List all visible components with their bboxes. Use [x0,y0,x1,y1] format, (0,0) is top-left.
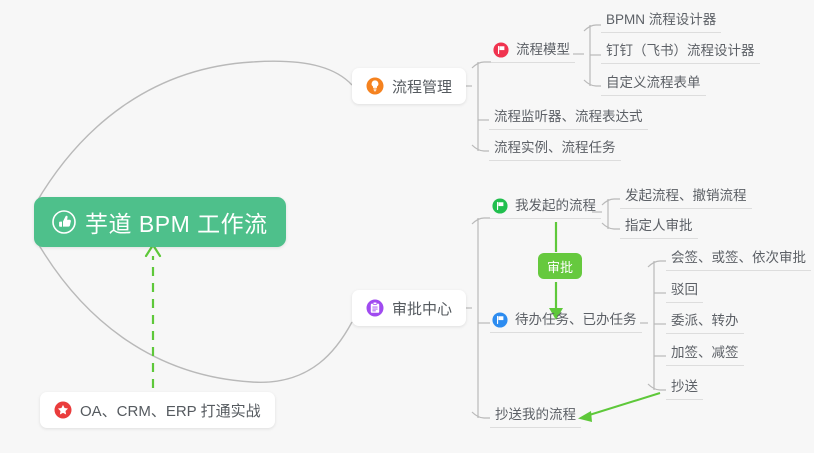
edge-pm-to-instance [472,145,489,151]
node-countersign-or-sequential[interactable]: 会签、或签、依次审批 [666,249,811,271]
edge-ac-to-cc-to-me [472,412,490,418]
star-icon [54,401,72,419]
thumbs-up-icon [52,210,76,234]
node-label-dingtalk-feishu-designer: 钉钉（飞书）流程设计器 [606,39,755,59]
edge-root-to-process-management [36,61,352,203]
branch-label-approval-center: 审批中心 [392,298,452,319]
node-label-delegate-transfer: 委派、转办 [671,309,739,329]
green-cc-arrow-line [586,393,660,416]
node-start-cancel-process[interactable]: 发起流程、撤销流程 [620,187,752,209]
node-todo-done-tasks[interactable]: 待办任务、已办任务 [490,311,642,333]
node-label-cc: 抄送 [671,375,698,395]
flag-icon [492,312,508,328]
node-bpmn-designer[interactable]: BPMN 流程设计器 [601,11,721,33]
node-dingtalk-feishu-designer[interactable]: 钉钉（飞书）流程设计器 [601,42,760,64]
node-label-cc-to-me-process: 抄送我的流程 [495,403,576,423]
footnote-node-oa-crm-erp[interactable]: OA、CRM、ERP 打通实战 [40,392,275,428]
node-custom-process-form[interactable]: 自定义流程表单 [601,74,706,96]
footnote-label: OA、CRM、ERP 打通实战 [80,400,261,421]
edge-pm-to-process-model [472,62,491,68]
clipboard-icon [366,299,384,317]
lightbulb-icon [366,77,384,95]
root-label: 芋道 BPM 工作流 [85,205,268,239]
node-add-remove-sign[interactable]: 加签、减签 [666,344,744,366]
edge-mi-to-assignee [602,223,620,229]
node-process-listener-expression[interactable]: 流程监听器、流程表达式 [489,108,648,130]
branch-node-approval-center[interactable]: 审批中心 [352,290,466,326]
node-label-process-model: 流程模型 [516,38,570,58]
node-label-bpmn-designer: BPMN 流程设计器 [606,8,716,28]
edge-ac-to-my-initiated [472,218,490,224]
node-assignee-approval[interactable]: 指定人审批 [620,217,698,239]
node-label-custom-process-form: 自定义流程表单 [606,71,701,91]
edge-pm-to-custom-form [584,80,601,86]
flag-icon [492,198,508,214]
node-label-add-remove-sign: 加签、减签 [671,341,739,361]
flag-icon [493,42,509,58]
approval-badge[interactable]: 审批 [538,253,582,279]
node-delegate-transfer[interactable]: 委派、转办 [666,312,744,334]
edge-root-to-approval-center [36,240,352,382]
node-process-instance-task[interactable]: 流程实例、流程任务 [489,139,621,161]
node-label-my-initiated-process: 我发起的流程 [515,194,596,214]
mindmap-canvas: 芋道 BPM 工作流 流程管理 流程模型 BPMN 流程设计器 钉钉（飞书 [0,0,814,453]
edge-pm-to-bpmn [584,25,601,31]
node-label-start-cancel-process: 发起流程、撤销流程 [625,184,747,204]
node-label-todo-done-tasks: 待办任务、已办任务 [515,308,637,328]
node-label-countersign-or-sequential: 会签、或签、依次审批 [671,246,806,266]
edge-todo-to-countersign [648,261,666,267]
node-label-reject: 驳回 [671,278,698,298]
approval-badge-label: 审批 [547,257,573,276]
node-cc[interactable]: 抄送 [666,378,703,400]
node-process-model[interactable]: 流程模型 [491,41,575,63]
node-label-process-listener-expression: 流程监听器、流程表达式 [494,105,643,125]
branch-node-process-management[interactable]: 流程管理 [352,68,466,104]
edge-todo-to-cc [648,384,666,390]
node-reject[interactable]: 驳回 [666,281,703,303]
node-my-initiated-process[interactable]: 我发起的流程 [490,197,601,219]
root-node[interactable]: 芋道 BPM 工作流 [34,197,286,247]
branch-label-process-management: 流程管理 [392,76,452,97]
node-label-process-instance-task: 流程实例、流程任务 [494,136,616,156]
node-label-assignee-approval: 指定人审批 [625,214,693,234]
node-cc-to-me-process[interactable]: 抄送我的流程 [490,406,581,428]
edge-mi-to-start-cancel [602,199,620,205]
